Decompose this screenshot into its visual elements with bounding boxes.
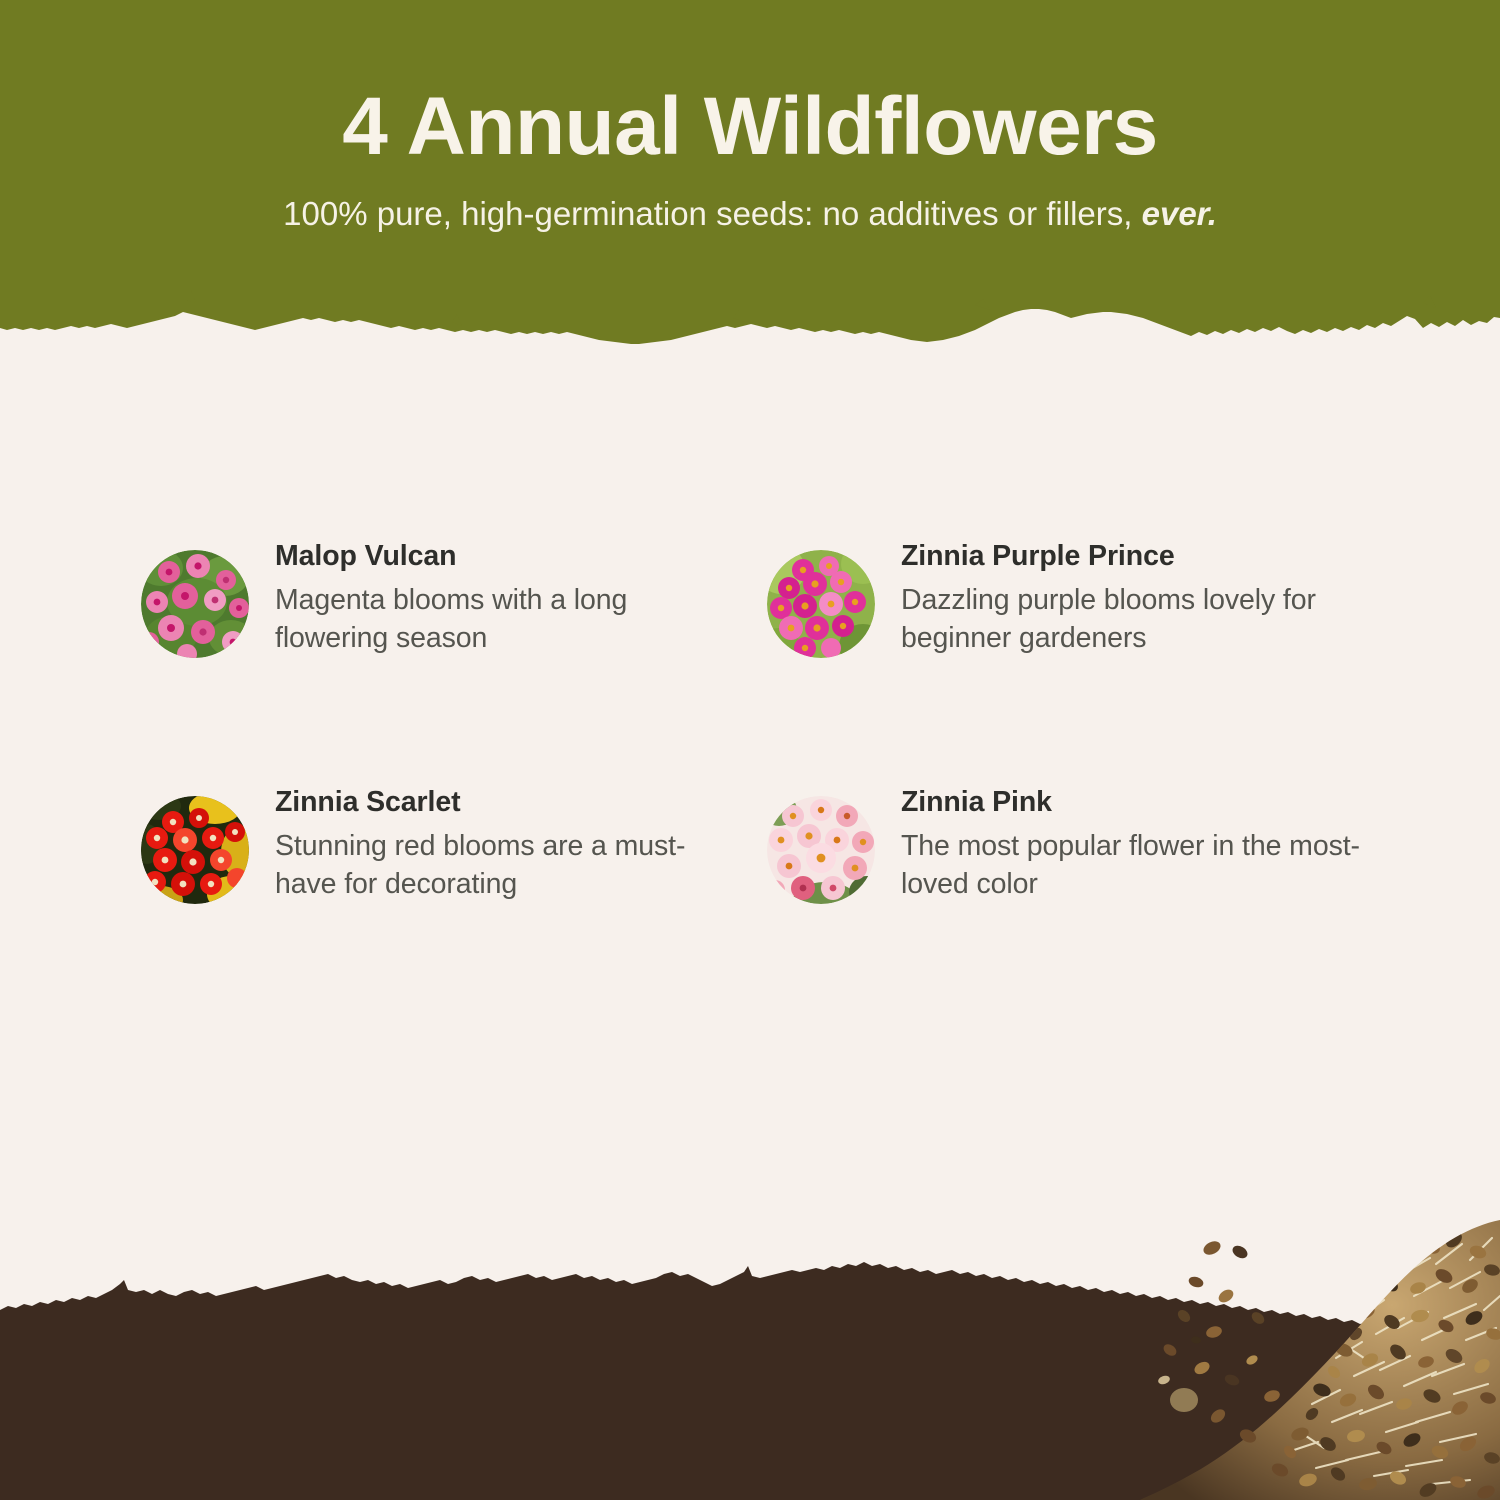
feature-text-block: Malop Vulcan Magenta blooms with a long … — [275, 540, 731, 658]
torn-paper-edge-soil — [0, 1260, 1500, 1500]
feature-title: Zinnia Purple Prince — [901, 540, 1407, 573]
zinnia-purple-prince-photo-icon — [767, 550, 875, 658]
feature-row: Malop Vulcan Magenta blooms with a long … — [0, 540, 1500, 658]
feature-description: Dazzling purple blooms lovely for beginn… — [901, 573, 1407, 658]
feature-item-malop-vulcan[interactable]: Malop Vulcan Magenta blooms with a long … — [141, 540, 731, 658]
feature-title: Zinnia Pink — [901, 786, 1407, 819]
feature-title: Zinnia Scarlet — [275, 786, 731, 819]
feature-title: Malop Vulcan — [275, 540, 731, 573]
feature-item-zinnia-purple-prince[interactable]: Zinnia Purple Prince Dazzling purple blo… — [767, 540, 1407, 658]
feature-row: Zinnia Scarlet Stunning red blooms are a… — [0, 786, 1500, 904]
feature-text-block: Zinnia Pink The most popular flower in t… — [901, 786, 1407, 904]
malop-vulcan-photo-icon — [141, 550, 249, 658]
torn-paper-edge-top — [0, 0, 1500, 345]
product-infographic: 4 Annual Wildflowers 100% pure, high-ger… — [0, 0, 1500, 1500]
feature-description: The most popular flower in the most-love… — [901, 819, 1407, 904]
feature-grid: Malop Vulcan Magenta blooms with a long … — [0, 540, 1500, 904]
feature-item-zinnia-scarlet[interactable]: Zinnia Scarlet Stunning red blooms are a… — [141, 786, 731, 904]
feature-text-block: Zinnia Scarlet Stunning red blooms are a… — [275, 786, 731, 904]
feature-item-zinnia-pink[interactable]: Zinnia Pink The most popular flower in t… — [767, 786, 1407, 904]
zinnia-pink-photo-icon — [767, 796, 875, 904]
feature-description: Stunning red blooms are a must-have for … — [275, 819, 731, 904]
header-banner: 4 Annual Wildflowers 100% pure, high-ger… — [0, 0, 1500, 345]
feature-text-block: Zinnia Purple Prince Dazzling purple blo… — [901, 540, 1407, 658]
feature-description: Magenta blooms with a long flowering sea… — [275, 573, 731, 658]
zinnia-scarlet-photo-icon — [141, 796, 249, 904]
